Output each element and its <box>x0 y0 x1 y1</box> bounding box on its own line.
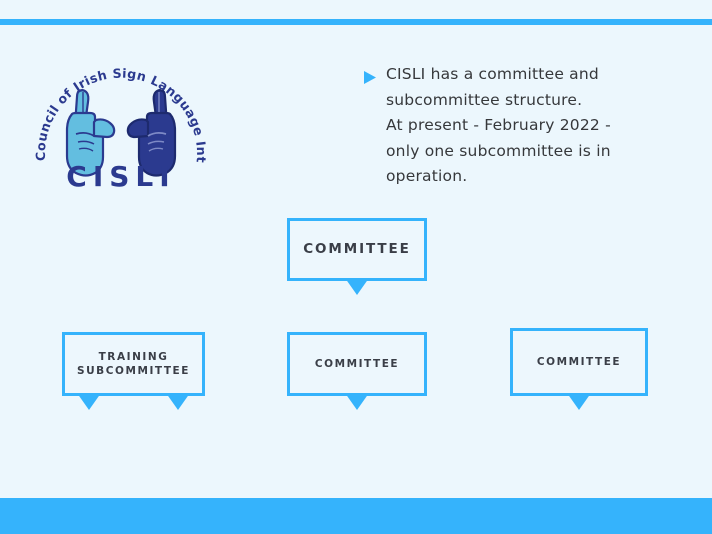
triangle-right-bullet-icon <box>364 69 376 88</box>
connector-arrow-down <box>345 393 369 410</box>
org-node-committee-2[interactable]: COMMITTEE <box>287 332 427 396</box>
org-node-label: COMMITTEE <box>315 357 399 371</box>
cisli-logo: Council of Irish Sign Language Interpret… <box>26 48 216 196</box>
org-node-training-subcommittee[interactable]: TRAINING SUBCOMMITTEE <box>62 332 205 396</box>
slide-canvas: Council of Irish Sign Language Interpret… <box>0 0 712 534</box>
bullet-text: CISLI has a committee and subcommittee s… <box>386 62 611 190</box>
connector-arrow-down <box>567 393 591 410</box>
top-accent-bar <box>0 19 712 25</box>
logo-circular-text: Council of Irish Sign Language Interpret… <box>26 48 209 164</box>
logo-wordmark: CISLI <box>66 160 175 193</box>
org-node-label: COMMITTEE <box>303 240 411 258</box>
org-node-label: COMMITTEE <box>537 355 621 369</box>
org-node-committee-top[interactable]: COMMITTEE <box>287 218 427 281</box>
bullet-paragraph-block: CISLI has a committee and subcommittee s… <box>364 62 684 190</box>
org-node-label: TRAINING SUBCOMMITTEE <box>77 350 190 378</box>
cisli-logo-graphic: Council of Irish Sign Language Interpret… <box>26 48 216 196</box>
connector-arrow-down-left <box>77 393 101 410</box>
connector-arrow-down <box>345 278 369 295</box>
bottom-accent-bar <box>0 498 712 534</box>
connector-arrow-down-right <box>166 393 190 410</box>
org-node-committee-3[interactable]: COMMITTEE <box>510 328 648 396</box>
